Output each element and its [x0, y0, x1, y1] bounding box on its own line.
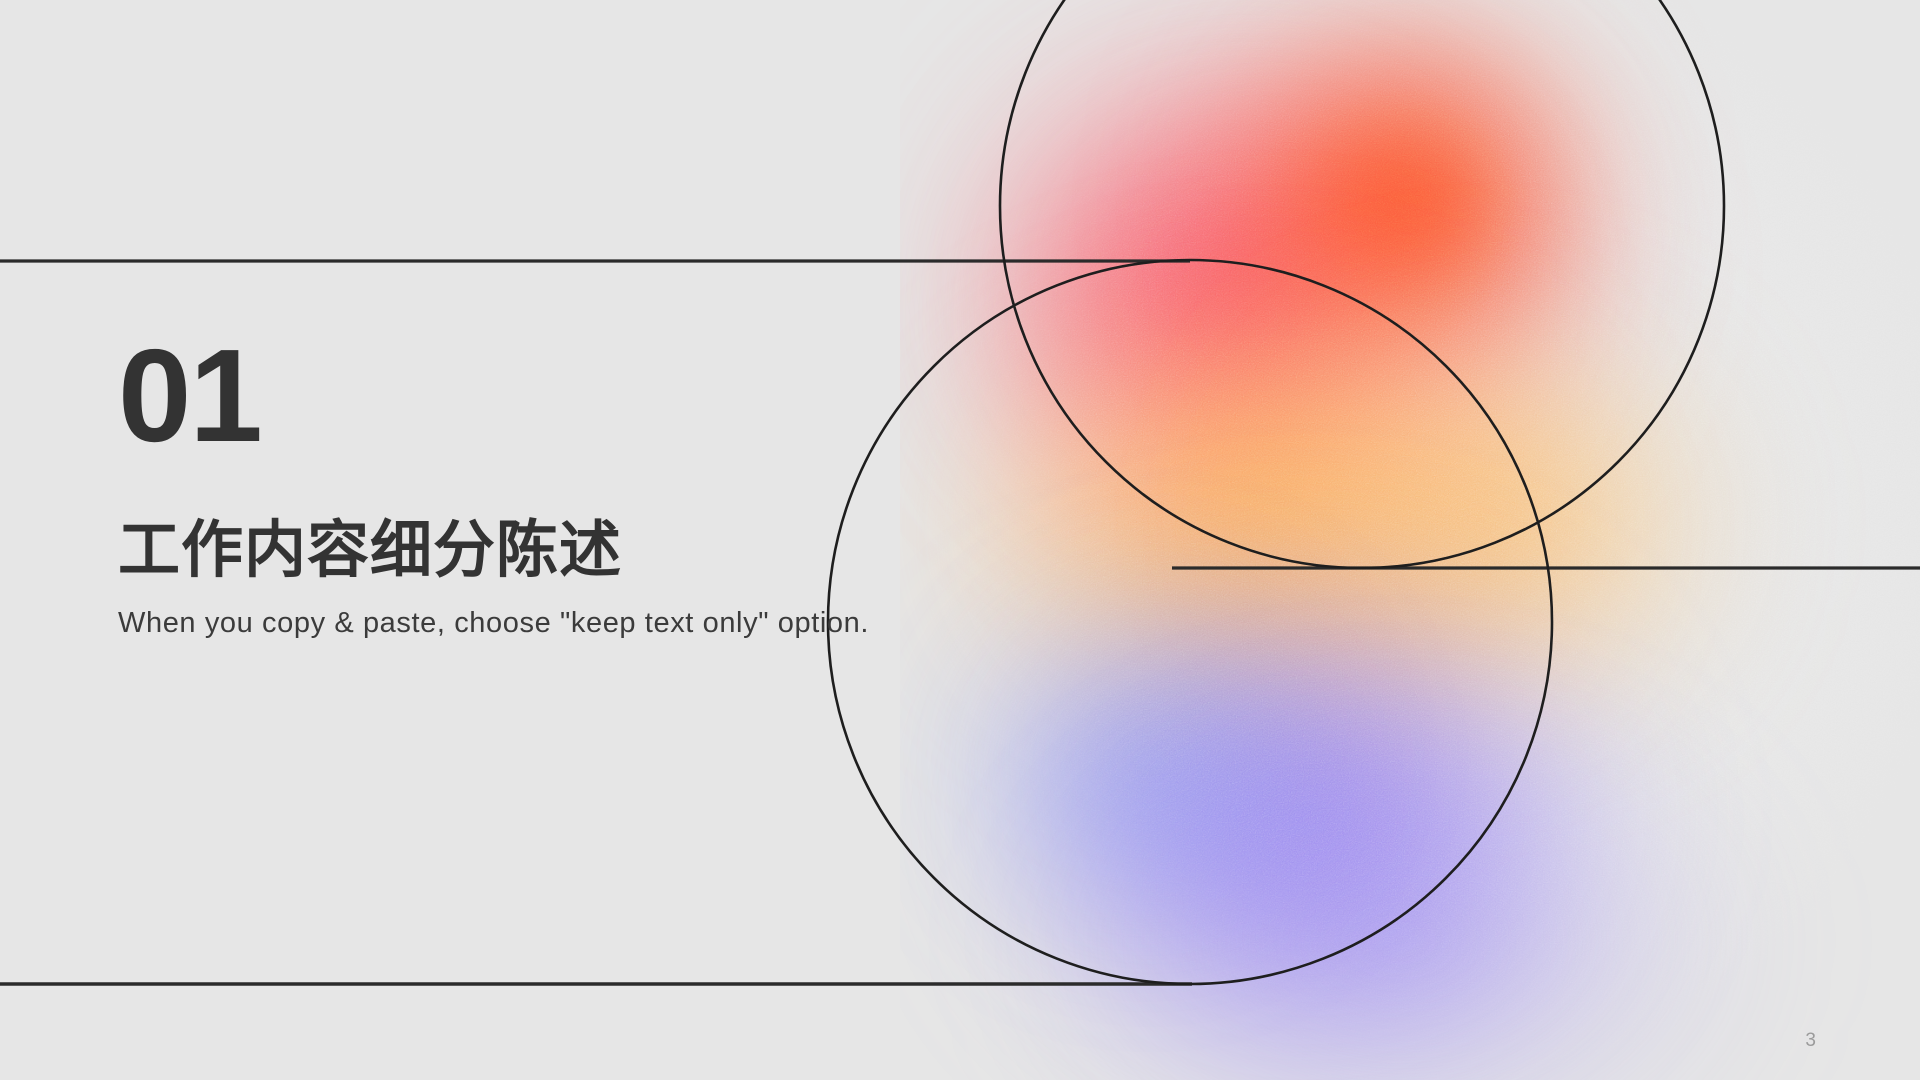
- slide-canvas: 01 工作内容细分陈述 When you copy & paste, choos…: [0, 0, 1920, 1080]
- gradient-blob-amber: [1230, 300, 1750, 740]
- gradient-blob-red-core: [1200, 0, 1620, 400]
- gradient-artwork: [900, 0, 1920, 1080]
- gradient-blob-blue: [940, 580, 1360, 940]
- page-number: 3: [1805, 1030, 1816, 1052]
- gradient-blob-lilac: [1020, 700, 1780, 1080]
- section-subtitle: When you copy & paste, choose "keep text…: [118, 607, 938, 640]
- gradient-blob-pink-halo: [900, 0, 1660, 580]
- gradient-blob-violet: [960, 540, 1660, 1080]
- gradient-blob-crimson: [960, 60, 1520, 580]
- section-text-block: 01 工作内容细分陈述 When you copy & paste, choos…: [118, 330, 938, 640]
- upper-circle-outline: [1000, 0, 1724, 568]
- gradient-blob-orange: [920, 270, 1620, 790]
- grain-texture: [900, 0, 1920, 1080]
- section-number: 01: [118, 330, 938, 462]
- section-title: 工作内容细分陈述: [118, 516, 938, 585]
